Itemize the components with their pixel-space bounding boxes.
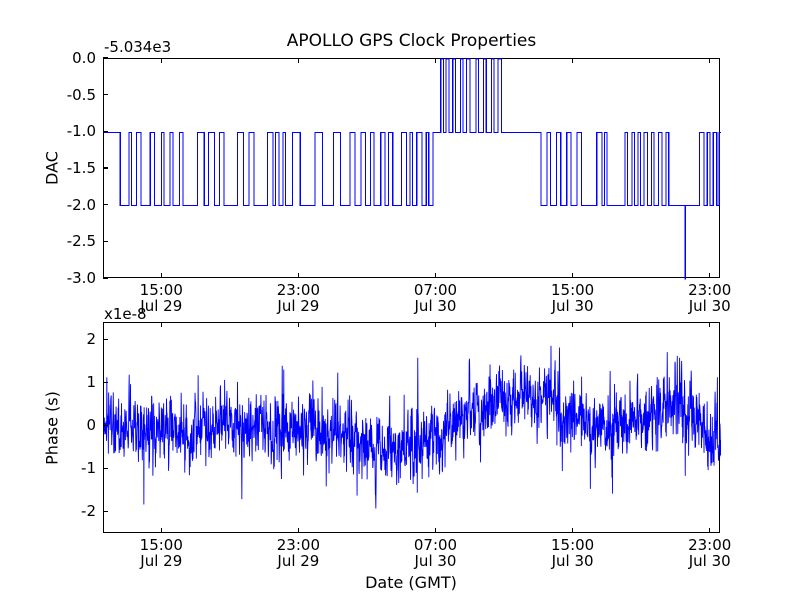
phase-x-tick-label: 15:00Jul 29 — [140, 537, 183, 569]
dac-y-tick-mark — [103, 131, 108, 132]
dac-x-tick-mark — [161, 58, 162, 63]
phase-y-tick-label: 1 — [41, 373, 96, 391]
dac-x-tick-mark — [572, 58, 573, 63]
dac-x-tick-mark — [435, 273, 436, 278]
phase-x-tick-mark — [572, 528, 573, 533]
phase-x-tick-label: 23:00Jul 29 — [277, 537, 320, 569]
dac-y-tick-mark — [103, 57, 108, 58]
phase-y-tick-mark — [103, 382, 108, 383]
phase-x-tick-mark — [709, 528, 710, 533]
dac-x-tick-mark — [298, 58, 299, 63]
dac-y-tick-label: 0.0 — [41, 49, 96, 67]
dac-y-tick-mark — [103, 94, 108, 95]
dac-x-tick-label: 07:00Jul 30 — [414, 282, 457, 314]
dac-y-tick-label: -0.5 — [41, 86, 96, 104]
dac-y-tick-mark — [103, 241, 108, 242]
dac-x-tick-mark — [161, 273, 162, 278]
phase-axes — [103, 322, 720, 533]
phase-trace — [104, 323, 721, 534]
dac-y-tick-label: -2.0 — [41, 196, 96, 214]
dac-y-tick-label: -1.0 — [41, 122, 96, 140]
phase-x-tick-mark — [709, 322, 710, 327]
phase-y-tick-label: 2 — [41, 330, 96, 348]
phase-x-tick-label: 07:00Jul 30 — [414, 537, 457, 569]
dac-x-tick-label: 23:00Jul 29 — [277, 282, 320, 314]
phase-y-tick-label: -1 — [41, 459, 96, 477]
figure-title: APOLLO GPS Clock Properties — [103, 31, 720, 51]
dac-trace — [104, 59, 721, 279]
phase-x-tick-label: 23:00Jul 30 — [688, 537, 731, 569]
phase-y-tick-label: 0 — [41, 416, 96, 434]
dac-y-tick-mark — [103, 277, 108, 278]
phase-x-tick-label: 15:00Jul 30 — [551, 537, 594, 569]
x-axis-label: Date (GMT) — [365, 573, 457, 592]
phase-x-tick-mark — [298, 528, 299, 533]
dac-offset-text: -5.034e3 — [104, 38, 171, 56]
dac-x-tick-mark — [572, 273, 573, 278]
phase-offset-text: x1e-8 — [104, 305, 147, 323]
phase-x-tick-mark — [298, 322, 299, 327]
phase-x-tick-mark — [161, 322, 162, 327]
phase-y-tick-mark — [103, 511, 108, 512]
phase-y-tick-mark — [103, 425, 108, 426]
dac-x-tick-mark — [709, 58, 710, 63]
dac-axes — [103, 58, 720, 278]
dac-x-tick-label: 15:00Jul 30 — [551, 282, 594, 314]
dac-y-tick-mark — [103, 204, 108, 205]
figure-canvas: APOLLO GPS Clock Properties -5.034e3 DAC… — [0, 0, 800, 600]
phase-y-tick-mark — [103, 339, 108, 340]
dac-y-tick-label: -2.5 — [41, 232, 96, 250]
dac-x-tick-mark — [298, 273, 299, 278]
dac-y-tick-mark — [103, 167, 108, 168]
phase-x-tick-mark — [435, 528, 436, 533]
dac-y-tick-label: -3.0 — [41, 269, 96, 287]
phase-x-tick-mark — [435, 322, 436, 327]
phase-x-tick-mark — [161, 528, 162, 533]
phase-y-tick-label: -2 — [41, 502, 96, 520]
dac-x-tick-mark — [709, 273, 710, 278]
phase-y-tick-mark — [103, 468, 108, 469]
phase-x-tick-mark — [572, 322, 573, 327]
dac-x-tick-mark — [435, 58, 436, 63]
dac-x-tick-label: 23:00Jul 30 — [688, 282, 731, 314]
dac-y-tick-label: -1.5 — [41, 159, 96, 177]
